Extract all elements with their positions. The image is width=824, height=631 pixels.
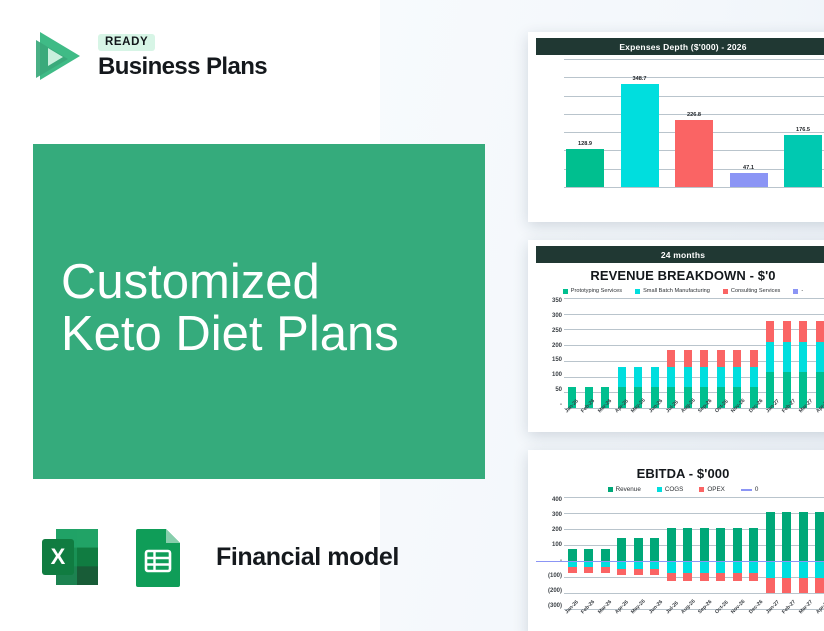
y-tick-label: 300 [552,313,562,319]
bar-segment [568,567,577,573]
stacked-bar [766,298,774,408]
revenue-plot: 35030025020015010050- Jan-26Feb-26Mar-26… [536,298,824,408]
bar-segment [749,573,758,582]
bar-segment [782,561,791,578]
y-tick-label: 400 [552,497,562,503]
legend-label: 0 [755,486,759,493]
ebitda-chart-legend: RevenueCOGSOPEX0 [536,486,824,493]
y-tick-label: 300 [552,512,562,518]
bar-segment [750,367,758,387]
stacked-bar [667,497,676,609]
bar-value-label: 226.8 [687,112,701,118]
bar-segment [766,561,775,578]
bar-segment [601,567,610,573]
bar-segment-revenue [568,549,577,561]
legend-item: Revenue [608,486,641,493]
bar-segment-revenue [799,512,808,561]
bar-segment [651,367,659,387]
stacked-bar [783,298,791,408]
bar-segment [799,321,807,342]
bar-column: 348.7 [621,59,659,187]
expenses-bars: 128.9348.7226.847.1176.5 [558,59,824,187]
ebitda-zero-line [536,561,824,562]
bar-segment [799,578,808,593]
financial-model-footer: X Financial model [34,521,399,593]
legend-label: Small Batch Manufacturing [643,288,710,294]
legend-swatch [741,489,752,491]
stacked-bar [601,497,610,609]
stacked-bar [634,298,642,408]
ebitda-bars [564,497,824,609]
bar-segment [650,569,659,575]
bar-segment-revenue [683,528,692,561]
bar-segment-revenue [634,538,643,561]
bar-segment [700,573,709,582]
stacked-bar [799,298,807,408]
stacked-bar [733,298,741,408]
bar-value-label: 47.1 [743,165,754,171]
stacked-bar [618,298,626,408]
stacked-bar [749,497,758,609]
stacked-bar [750,298,758,408]
bar-segment [684,350,692,367]
bar-segment [750,350,758,367]
legend-item: COGS [657,486,684,493]
stacked-bar [568,497,577,609]
bar-segment-revenue [716,528,725,561]
bar-segment-revenue [650,538,659,561]
bar-segment [683,573,692,582]
stacked-bar [667,298,675,408]
stacked-bar [684,298,692,408]
stacked-bar [815,497,824,609]
legend-swatch [723,289,728,294]
stacked-bar [700,497,709,609]
brand-logo: READY Business Plans [30,26,267,86]
stacked-bar [700,298,708,408]
bar-segment [667,573,676,582]
legend-swatch [635,289,640,294]
revenue-chart-legend: Prototyping ServicesSmall Batch Manufact… [536,288,824,294]
bar-column: 47.1 [730,59,768,187]
bar-segment [683,561,692,573]
stacked-bar [601,298,609,408]
stacked-bar [651,298,659,408]
bar-column: 226.8 [675,59,713,187]
bar-segment-revenue [617,538,626,561]
y-tick-label: 100 [552,542,562,548]
bar-segment-revenue [584,549,593,561]
bar-segment-revenue [782,512,791,561]
legend-item: - [793,288,803,294]
bar-segment [733,350,741,367]
gridline [564,187,824,188]
y-tick-label: 350 [552,298,562,304]
expenses-plot: 128.9348.7226.847.1176.5 [536,59,824,187]
bar-segment [766,342,774,371]
legend-label: Consulting Services [731,288,780,294]
bar-segment [717,350,725,367]
revenue-chart-header: 24 months [536,246,824,263]
bar-segment [667,561,676,573]
legend-swatch [563,289,568,294]
bar-segment [799,561,808,578]
bar [621,84,659,187]
stacked-bar [585,298,593,408]
chart-card-revenue-breakdown[interactable]: 24 months REVENUE BREAKDOWN - $'0 Protot… [528,240,824,432]
y-tick-label: 200 [552,527,562,533]
bar-segment [766,321,774,342]
stacked-bar [617,497,626,609]
excel-icon: X [34,521,106,593]
y-tick-label: (300) [548,603,562,609]
ebitda-y-axis: 400300200100-(100)(200)(300) [536,497,562,609]
bar-segment [733,573,742,582]
stacked-bar [634,497,643,609]
brand-name: Business Plans [98,53,267,81]
legend-label: COGS [665,486,684,493]
bar-segment-revenue [601,549,610,561]
legend-swatch [608,487,613,492]
stacked-bar [733,497,742,609]
footer-label: Financial model [216,543,399,572]
bar-segment [617,569,626,575]
chart-card-expenses[interactable]: Expenses Depth ($'000) - 2026 128.9348.7… [528,32,824,222]
play-triangle-logo-icon [30,26,86,86]
bar-segment-revenue [749,528,758,561]
y-tick-label: 250 [552,328,562,334]
legend-item: Prototyping Services [563,288,622,294]
bar-segment-revenue [815,512,824,561]
revenue-y-axis: 35030025020015010050- [536,298,562,408]
stacked-bar [766,497,775,609]
bar-value-label: 348.7 [633,76,647,82]
bar [675,120,713,187]
legend-label: OPEX [707,486,725,493]
bar-segment [783,321,791,342]
revenue-chart-title: REVENUE BREAKDOWN - $'0 [536,268,824,283]
ready-badge: READY [98,34,155,51]
google-sheets-icon [122,521,194,593]
stacked-bar [782,497,791,609]
bar-column: 176.5 [784,59,822,187]
bar-segment [634,367,642,387]
legend-swatch [699,487,704,492]
bar-value-label: 176.5 [796,127,810,133]
bar-segment [716,573,725,582]
bar [566,149,604,187]
page-title: Customized Keto Diet Plans [61,256,399,361]
chart-card-ebitda[interactable]: EBITDA - $'000 RevenueCOGSOPEX0 40030020… [528,450,824,631]
bar-segment [733,561,742,573]
bar-segment [815,578,824,593]
legend-swatch [793,289,798,294]
stacked-bar [816,298,824,408]
revenue-bars [564,298,824,408]
stacked-bar [568,298,576,408]
y-tick-label: 50 [555,387,562,393]
y-tick-label: (200) [548,588,562,594]
expenses-chart-header: Expenses Depth ($'000) - 2026 [536,38,824,55]
bar-value-label: 128.9 [578,141,592,147]
revenue-x-axis: Jan-26Feb-26Mar-26Apr-26May-26Jun-26Jul-… [564,408,824,416]
bar-segment [717,367,725,387]
bar-segment-revenue [700,528,709,561]
bar-segment [634,569,643,575]
bar-segment [716,561,725,573]
stacked-bar [799,497,808,609]
legend-label: - [801,288,803,294]
bar [730,173,768,187]
bar-segment [749,561,758,573]
bar-segment [782,578,791,593]
stacked-bar [716,497,725,609]
bar-segment-revenue [733,528,742,561]
bar-segment [816,342,824,371]
bar-segment [700,367,708,387]
bar [784,135,822,187]
legend-item: OPEX [699,486,725,493]
stacked-bar [650,497,659,609]
legend-item: 0 [741,486,759,493]
y-tick-label: (100) [548,573,562,579]
legend-label: Revenue [616,486,641,493]
legend-swatch [657,487,662,492]
bar-segment [667,350,675,367]
bar-segment [584,567,593,573]
bar-segment [667,367,675,387]
stacked-bar [584,497,593,609]
svg-text:X: X [51,544,66,569]
bar-segment [700,561,709,573]
bar-segment-revenue [667,528,676,561]
bar-segment [799,342,807,371]
hero-banner: Customized Keto Diet Plans [33,144,485,479]
bar-segment [783,342,791,371]
ebitda-chart-title: EBITDA - $'000 [536,466,824,481]
legend-item: Small Batch Manufacturing [635,288,710,294]
legend-label: Prototyping Services [571,288,622,294]
legend-item: Consulting Services [723,288,780,294]
bar-segment [700,350,708,367]
bar-segment [816,321,824,342]
bar-segment [815,561,824,578]
bar-segment [733,367,741,387]
y-tick-label: - [560,402,562,408]
bar-segment [618,367,626,387]
y-tick-label: 200 [552,343,562,349]
bar-column: 128.9 [566,59,604,187]
bar-segment [684,367,692,387]
y-tick-label: 150 [552,357,562,363]
stacked-bar [683,497,692,609]
bar-segment [766,578,775,593]
bar-segment-revenue [766,512,775,561]
y-tick-label: 100 [552,372,562,378]
stacked-bar [717,298,725,408]
ebitda-x-axis: Jan-26Feb-26Mar-26Apr-26May-26Jun-26Jul-… [564,609,824,617]
ebitda-plot: 400300200100-(100)(200)(300) Jan-26Feb-2… [536,497,824,609]
